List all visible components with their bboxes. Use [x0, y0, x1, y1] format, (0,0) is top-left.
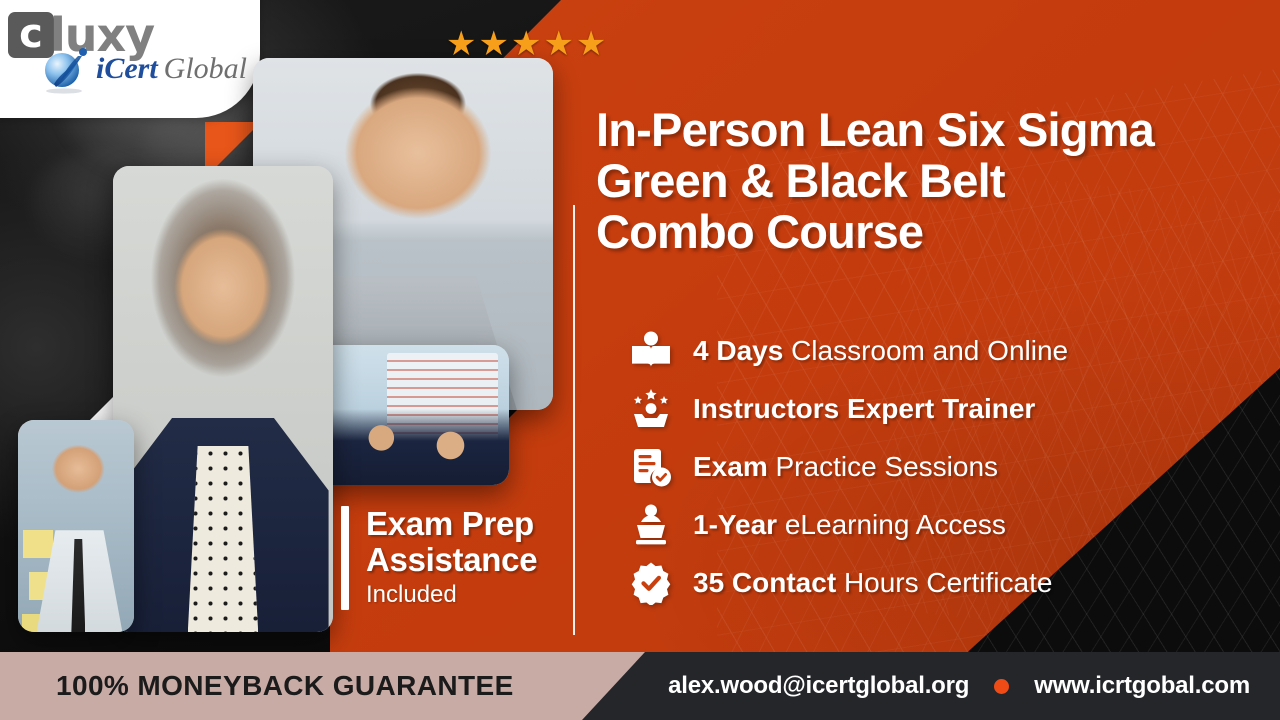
headline-line-2: Green & Black Belt [596, 155, 1266, 206]
feature-text-trainer: Instructors Expert Trainer [693, 393, 1035, 425]
feature-rest-days: Classroom and Online [791, 335, 1068, 366]
exam-prep-included: Included [366, 580, 537, 610]
callout-accent-bar [341, 506, 349, 610]
feature-strong-exam: Exam [693, 451, 768, 482]
feature-text-days: 4 Days Classroom and Online [693, 335, 1068, 367]
feature-rest-contact-hours: Hours Certificate [844, 567, 1053, 598]
feature-rest-elearning: eLearning Access [785, 509, 1006, 540]
separator-dot-icon [994, 679, 1009, 694]
feature-item-elearning: 1-Year eLearning Access [628, 496, 1068, 554]
feature-text-exam: Exam Practice Sessions [693, 451, 998, 483]
vertical-divider [573, 205, 575, 635]
exam-document-check-icon [628, 444, 674, 490]
feature-item-contact-hours: 35 Contact Hours Certificate [628, 554, 1068, 612]
feature-strong-trainer: Instructors Expert Trainer [693, 393, 1035, 424]
feature-item-days: 4 Days Classroom and Online [628, 322, 1068, 380]
icert-wordmark: iCertGlobal [96, 52, 247, 86]
photo-card-trainer-whiteboard [18, 420, 134, 632]
feature-strong-contact-hours: 35 Contact [693, 567, 836, 598]
course-promo-banner: c luxy iCertGlobal [0, 0, 1280, 720]
feature-rest-exam: Practice Sessions [776, 451, 999, 482]
feature-text-elearning: 1-Year eLearning Access [693, 509, 1006, 541]
exam-prep-line1: Exam Prep [366, 506, 537, 542]
icert-word: iCert [96, 52, 158, 85]
moneyback-guarantee-text: 100% MONEYBACK GUARANTEE [56, 670, 514, 702]
photo-professional-woman [113, 166, 333, 632]
exam-prep-line2: Assistance [366, 542, 537, 578]
headline-line-3: Combo Course [596, 206, 1266, 257]
icert-swoosh-icon [40, 44, 94, 94]
contact-email[interactable]: alex.wood@icertglobal.org [668, 672, 969, 700]
expert-trainer-icon [628, 386, 674, 432]
headline-line-1: In-Person Lean Six Sigma [596, 104, 1266, 155]
contact-bar: alex.wood@icertglobal.org www.icrtgobal.… [560, 652, 1280, 720]
white-triangle-accent [88, 396, 114, 422]
feature-strong-days: 4 Days [693, 335, 783, 366]
verified-badge-icon [628, 560, 674, 606]
contact-website[interactable]: www.icrtgobal.com [1034, 672, 1250, 700]
podium-speaker-icon [628, 502, 674, 548]
global-word: Global [164, 52, 247, 85]
exam-prep-callout: Exam Prep Assistance Included [341, 506, 537, 610]
icert-global-logo[interactable]: iCertGlobal [40, 44, 247, 94]
feature-list: 4 Days Classroom and Online Instructors … [628, 322, 1068, 612]
star-rating: ★★★★★ [446, 27, 608, 61]
page-title: In-Person Lean Six Sigma Green & Black B… [596, 104, 1266, 257]
feature-item-trainer: Instructors Expert Trainer [628, 380, 1068, 438]
feature-item-exam: Exam Practice Sessions [628, 438, 1068, 496]
open-book-reader-icon [628, 328, 674, 374]
feature-strong-elearning: 1-Year [693, 509, 777, 540]
feature-text-contact-hours: 35 Contact Hours Certificate [693, 567, 1052, 599]
photo-card-professional-woman [113, 166, 333, 632]
